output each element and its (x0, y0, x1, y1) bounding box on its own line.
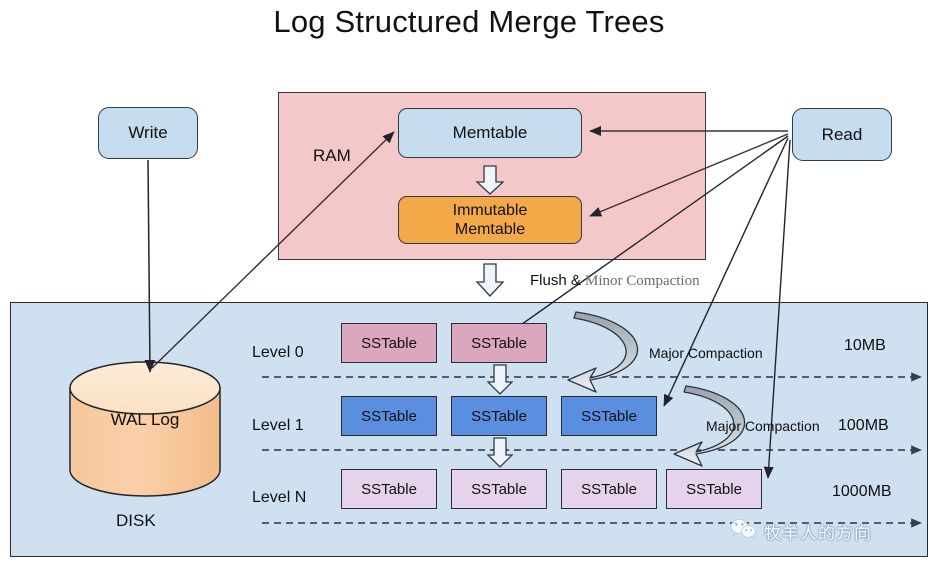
major-compaction-caption-0: Major Compaction (649, 345, 763, 361)
disk-label: DISK (116, 511, 156, 531)
sstable-l1-2[interactable]: SSTable (561, 396, 657, 436)
immutable-memtable-line1: Immutable (453, 201, 528, 220)
sstable-ln-1[interactable]: SSTable (451, 469, 547, 509)
wal-log-label: WAL Log (70, 410, 220, 430)
level-size-1: 100MB (838, 417, 889, 435)
sstable-l1-0[interactable]: SSTable (341, 396, 437, 436)
diagram-canvas: Log Structured Merge Trees RAM DISK Writ… (0, 0, 938, 567)
watermark: 牧羊人的方向 (730, 515, 872, 547)
read-node[interactable]: Read (792, 108, 892, 161)
page-title: Log Structured Merge Trees (0, 4, 938, 40)
level-size-0: 10MB (844, 337, 886, 355)
write-node[interactable]: Write (98, 107, 198, 159)
sstable-ln-0[interactable]: SSTable (341, 469, 437, 509)
arrow-flush-to-disk (477, 264, 503, 296)
sstable-l0-0[interactable]: SSTable (341, 323, 437, 363)
ram-label: RAM (313, 146, 351, 166)
level-label-n: Level N (252, 489, 306, 507)
arrow-level1-to-leveln (488, 438, 512, 467)
sstable-ln-3[interactable]: SSTable (666, 469, 762, 509)
flush-caption-primary: Flush & (530, 272, 581, 289)
sstable-l1-1[interactable]: SSTable (451, 396, 547, 436)
level-size-n: 1000MB (832, 483, 892, 501)
wechat-icon (730, 518, 757, 545)
flush-caption-secondary: Minor Compaction (585, 273, 700, 289)
flush-caption: Flush & Minor Compaction (530, 272, 700, 290)
memtable-node[interactable]: Memtable (398, 108, 582, 158)
arrow-level0-to-level1 (488, 365, 512, 394)
sstable-l0-1[interactable]: SSTable (451, 323, 547, 363)
major-compaction-caption-1: Major Compaction (706, 418, 820, 434)
arrow-memtable-to-immutable (477, 166, 503, 194)
arrow-write-to-wal (148, 160, 150, 372)
level-label-0: Level 0 (252, 344, 304, 362)
level-label-1: Level 1 (252, 417, 304, 435)
immutable-memtable-line2: Memtable (455, 220, 525, 239)
watermark-text: 牧羊人的方向 (764, 519, 872, 544)
immutable-memtable-node[interactable]: Immutable Memtable (398, 196, 582, 244)
curved-arrow-major-compaction-0 (568, 312, 638, 392)
sstable-ln-2[interactable]: SSTable (561, 469, 657, 509)
